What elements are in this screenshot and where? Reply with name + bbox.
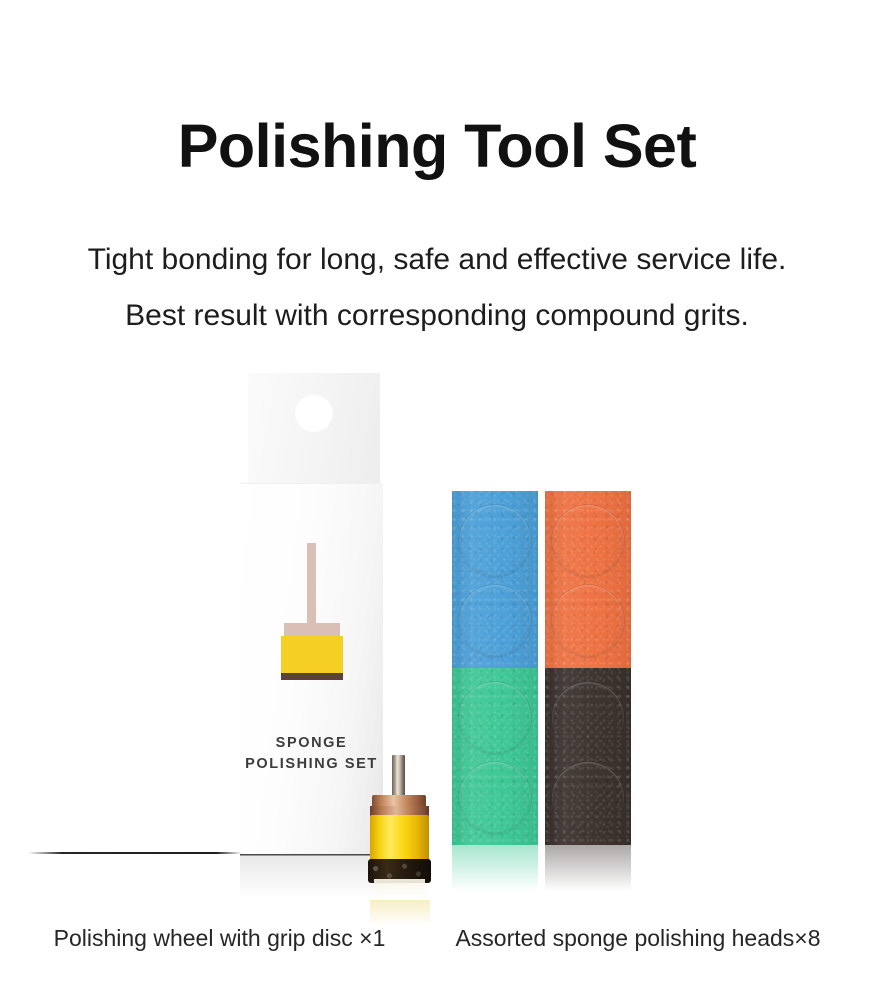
blue-sponge-segment xyxy=(452,491,538,668)
retail-box-bottom-edge xyxy=(28,852,242,854)
box-illustration-icon xyxy=(280,543,344,679)
illustration-base xyxy=(281,673,343,680)
sponge-pad xyxy=(552,585,624,657)
sponge-pad xyxy=(552,762,624,834)
product-feature-page: Polishing Tool Set Tight bonding for lon… xyxy=(0,0,874,1000)
illustration-shaft xyxy=(307,543,316,629)
sponge-strip-right xyxy=(545,491,631,845)
wheel-grip-disc xyxy=(374,879,425,901)
sponge-pad xyxy=(459,585,531,657)
caption-polishing-wheel: Polishing wheel with grip disc ×1 xyxy=(47,922,392,954)
illustration-collar xyxy=(284,623,340,637)
retail-box-label-line-1: SPONGE xyxy=(240,733,383,754)
sponge-strip-right-reflection xyxy=(545,845,631,891)
polishing-wheel-tool xyxy=(362,755,438,903)
sponge-pad xyxy=(552,505,624,577)
sponge-strip-left xyxy=(452,491,538,845)
sponge-pad xyxy=(459,762,531,834)
sponge-pad xyxy=(459,682,531,754)
illustration-body xyxy=(281,636,343,674)
black-sponge-segment xyxy=(545,668,631,845)
sponge-pad xyxy=(552,682,624,754)
wheel-shaft xyxy=(392,755,405,799)
caption-sponge-heads: Assorted sponge polishing heads×8 xyxy=(453,922,823,954)
wheel-body xyxy=(370,815,429,862)
sponge-strip-left-reflection xyxy=(452,845,538,891)
hang-hole-icon xyxy=(295,394,333,432)
green-sponge-segment xyxy=(452,668,538,845)
sponge-pad xyxy=(459,505,531,577)
product-image: SPONGE POLISHING SET xyxy=(0,0,874,1000)
orange-sponge-segment xyxy=(545,491,631,668)
